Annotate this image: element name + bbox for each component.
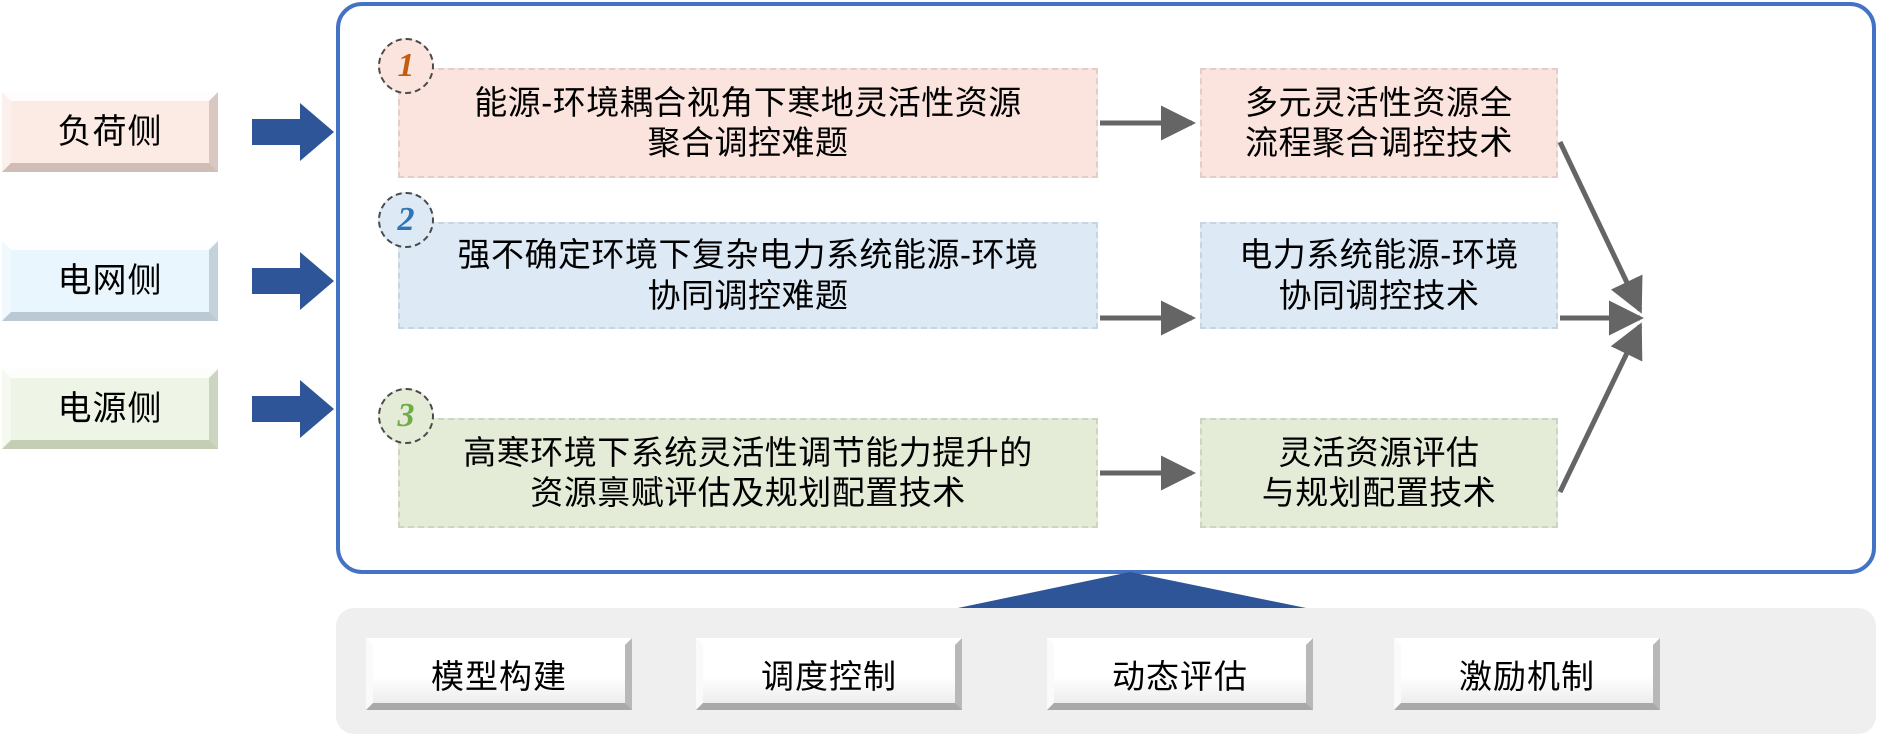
- technology-box-2[interactable]: 电力系统能源-环境 协同调控技术: [1200, 222, 1558, 329]
- bottom-item-model-construction[interactable]: 模型构建: [366, 638, 632, 710]
- bottom-item-dispatch-control[interactable]: 调度控制: [696, 638, 962, 710]
- technology-box-3[interactable]: 灵活资源评估 与规划配置技术: [1200, 418, 1558, 528]
- bottom-item-1-label: 模型构建: [431, 650, 567, 698]
- step-badge-1-number: 1: [398, 47, 415, 85]
- diagram-canvas: 负荷侧 电网侧 电源侧 能源-环境耦合视角下寒地灵活性资源 聚合调控难题 强不确…: [0, 0, 1882, 740]
- side-box-load-label: 负荷侧: [58, 115, 163, 149]
- problem-box-2-line2: 协同调控难题: [458, 276, 1039, 316]
- technology-box-3-text: 灵活资源评估 与规划配置技术: [1262, 433, 1497, 514]
- problem-box-2-line1: 强不确定环境下复杂电力系统能源-环境: [458, 235, 1039, 275]
- step-badge-1: 1: [378, 38, 434, 94]
- step-badge-2: 2: [378, 192, 434, 248]
- bottom-item-2-label: 调度控制: [761, 650, 897, 698]
- problem-box-2[interactable]: 强不确定环境下复杂电力系统能源-环境 协同调控难题: [398, 222, 1098, 329]
- right-block-arrow-icon: [252, 103, 334, 161]
- problem-box-3[interactable]: 高寒环境下系统灵活性调节能力提升的 资源禀赋评估及规划配置技术: [398, 418, 1098, 528]
- technology-box-3-line2: 与规划配置技术: [1262, 473, 1497, 513]
- step-badge-2-number: 2: [398, 201, 415, 239]
- step-badge-3: 3: [378, 388, 434, 444]
- technology-box-3-line1: 灵活资源评估: [1262, 433, 1497, 473]
- technology-box-1-line2: 流程聚合调控技术: [1245, 123, 1513, 163]
- bottom-item-4-label: 激励机制: [1459, 650, 1595, 698]
- bottom-item-dynamic-evaluation[interactable]: 动态评估: [1047, 638, 1313, 710]
- technology-box-1-line1: 多元灵活性资源全: [1245, 83, 1513, 123]
- side-box-source-label: 电源侧: [58, 392, 163, 426]
- problem-box-3-line1: 高寒环境下系统灵活性调节能力提升的: [463, 433, 1033, 473]
- side-box-load[interactable]: 负荷侧: [2, 92, 218, 172]
- step-badge-3-number: 3: [398, 397, 415, 435]
- problem-box-1-line2: 聚合调控难题: [474, 123, 1022, 163]
- side-box-grid-label: 电网侧: [58, 264, 163, 298]
- technology-box-1-text: 多元灵活性资源全 流程聚合调控技术: [1245, 83, 1513, 164]
- side-box-source[interactable]: 电源侧: [2, 369, 218, 449]
- problem-box-1[interactable]: 能源-环境耦合视角下寒地灵活性资源 聚合调控难题: [398, 68, 1098, 178]
- bottom-item-3-label: 动态评估: [1112, 650, 1248, 698]
- problem-box-2-text: 强不确定环境下复杂电力系统能源-环境 协同调控难题: [458, 235, 1039, 316]
- problem-box-3-line2: 资源禀赋评估及规划配置技术: [463, 473, 1033, 513]
- technology-box-1[interactable]: 多元灵活性资源全 流程聚合调控技术: [1200, 68, 1558, 178]
- side-box-grid[interactable]: 电网侧: [2, 241, 218, 321]
- technology-box-2-line1: 电力系统能源-环境: [1239, 235, 1519, 275]
- bottom-item-incentive-mechanism[interactable]: 激励机制: [1394, 638, 1660, 710]
- technology-box-2-text: 电力系统能源-环境 协同调控技术: [1239, 235, 1519, 316]
- technology-box-2-line2: 协同调控技术: [1239, 276, 1519, 316]
- problem-box-3-text: 高寒环境下系统灵活性调节能力提升的 资源禀赋评估及规划配置技术: [463, 433, 1033, 514]
- problem-box-1-text: 能源-环境耦合视角下寒地灵活性资源 聚合调控难题: [474, 83, 1022, 164]
- problem-box-1-line1: 能源-环境耦合视角下寒地灵活性资源: [474, 83, 1022, 123]
- right-block-arrow-icon: [252, 380, 334, 438]
- right-block-arrow-icon: [252, 252, 334, 310]
